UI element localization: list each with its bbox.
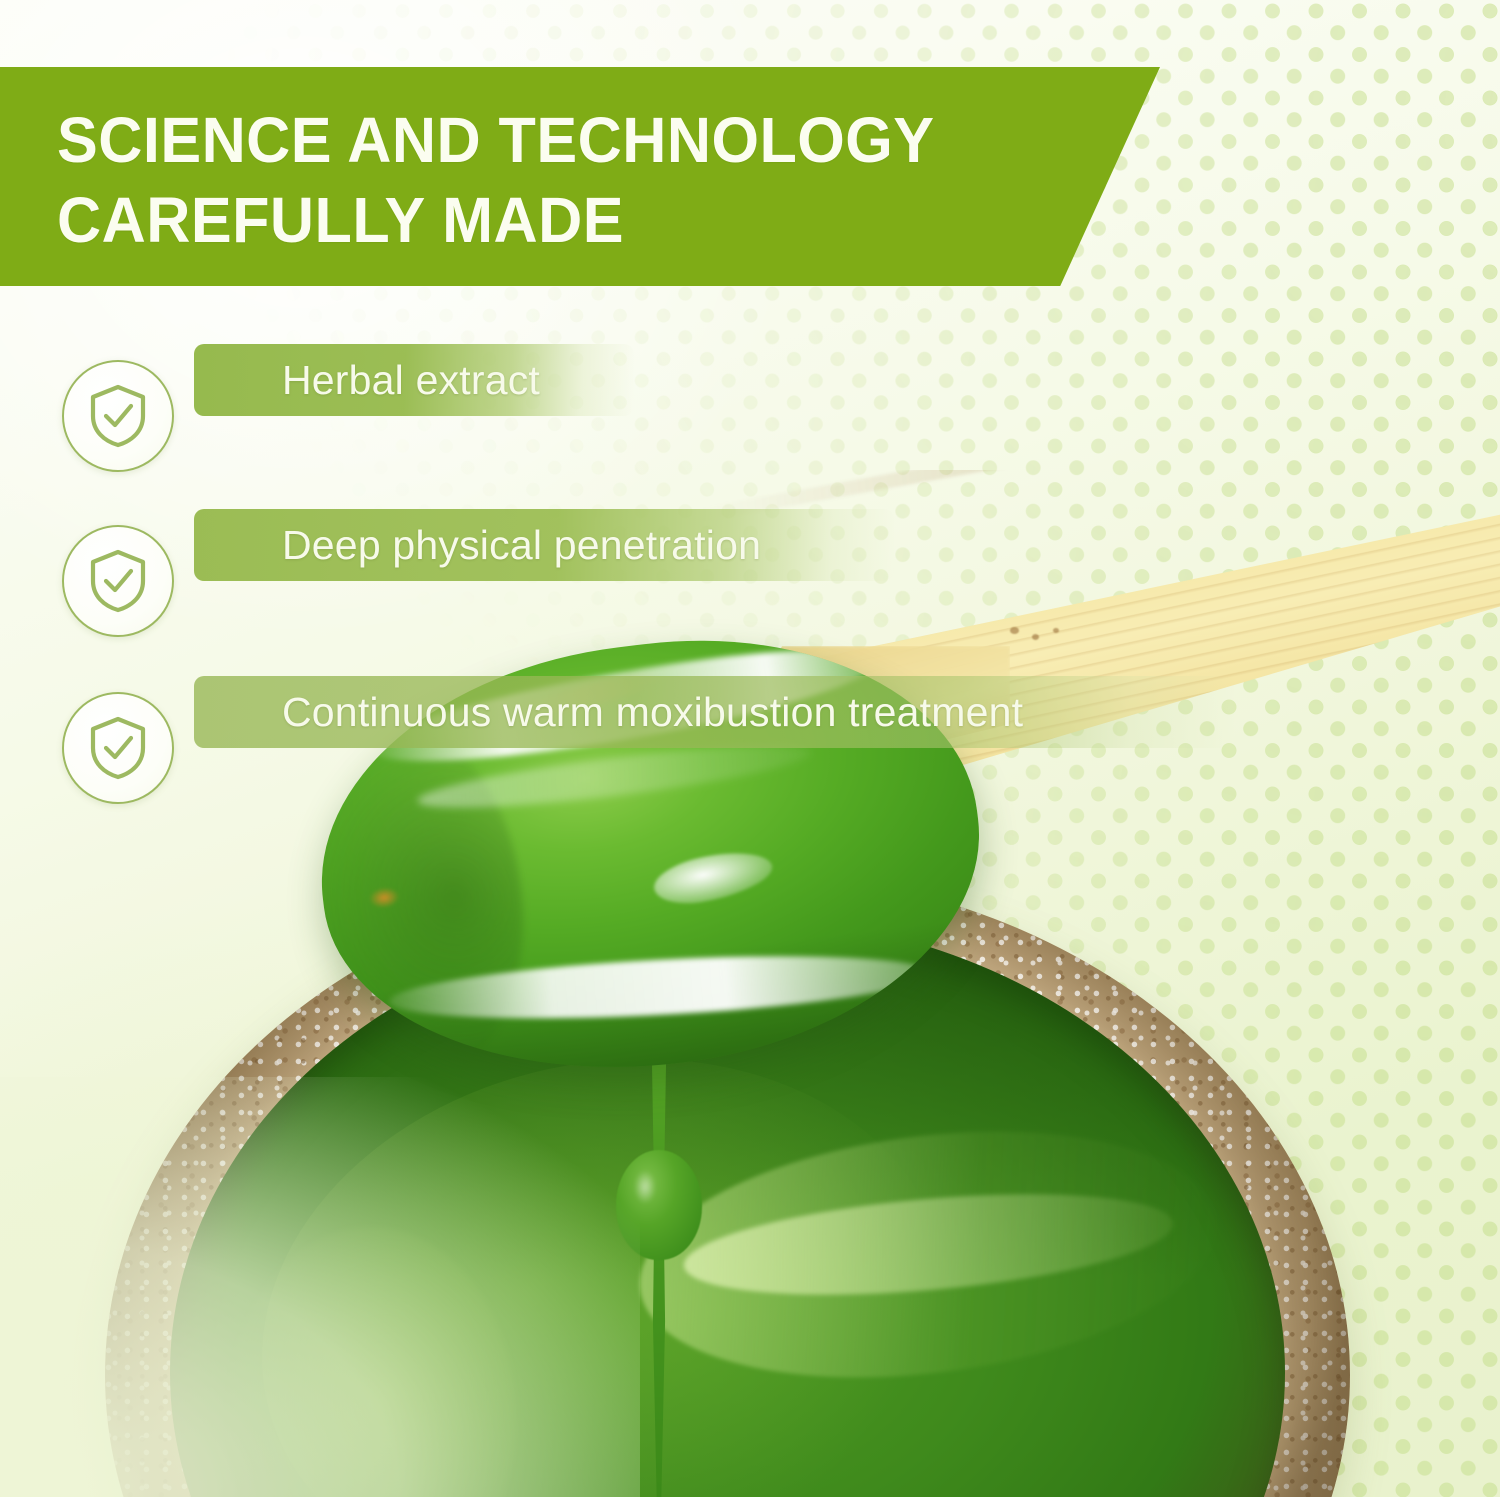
shield-check-icon [62, 525, 174, 637]
feature-label: Deep physical penetration [282, 522, 761, 569]
feature-list: Herbal extract Deep physical penetration [0, 0, 1500, 1497]
feature-pill: Herbal extract [194, 344, 634, 416]
feature-pill: Deep physical penetration [194, 509, 894, 581]
feature-label: Continuous warm moxibustion treatment [282, 689, 1023, 736]
feature-label: Herbal extract [282, 357, 540, 404]
feature-pill: Continuous warm moxibustion treatment [194, 676, 1234, 748]
product-feature-poster: SCIENCE AND TECHNOLOGY CAREFULLY MADE [0, 0, 1500, 1497]
shield-check-icon [62, 692, 174, 804]
shield-check-icon [62, 360, 174, 472]
